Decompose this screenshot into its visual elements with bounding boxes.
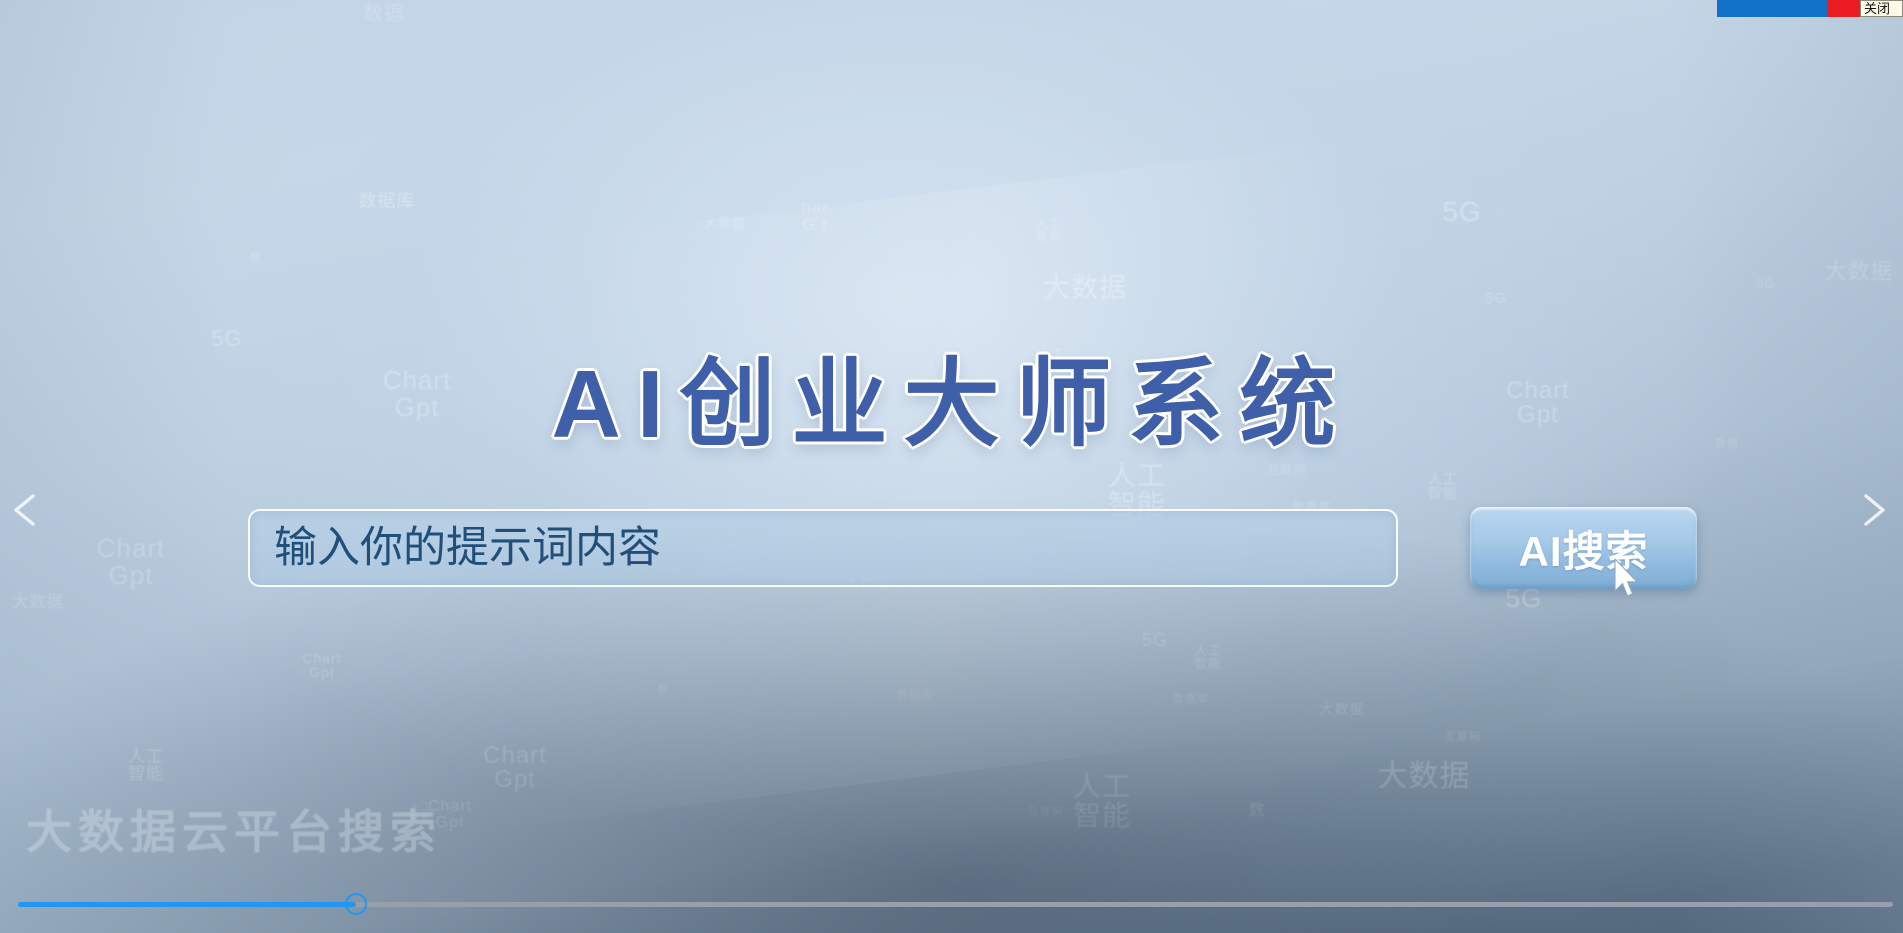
page-title: AI创业大师系统 <box>0 326 1903 465</box>
prev-arrow-icon[interactable] <box>2 487 48 533</box>
search-input[interactable] <box>248 509 1398 587</box>
footer-headline: 大数据云平台搜索 <box>26 796 442 862</box>
slider-fill <box>18 902 356 907</box>
progress-slider[interactable] <box>18 893 1893 915</box>
browser-chrome-strip: 关闭 <box>1717 0 1903 17</box>
search-row: AI搜索 <box>248 509 1718 595</box>
background-vignette <box>0 0 1903 933</box>
slider-handle[interactable] <box>345 893 367 915</box>
close-tooltip: 关闭 <box>1860 0 1903 17</box>
ai-search-button[interactable]: AI搜索 <box>1470 507 1697 589</box>
close-button[interactable] <box>1827 0 1860 17</box>
app-root: 数据数据库数5GChart GptChart Gpt大数据Chart GptCh… <box>0 0 1903 933</box>
window-titlebar-strip <box>1717 0 1827 17</box>
next-arrow-icon[interactable] <box>1851 487 1897 533</box>
